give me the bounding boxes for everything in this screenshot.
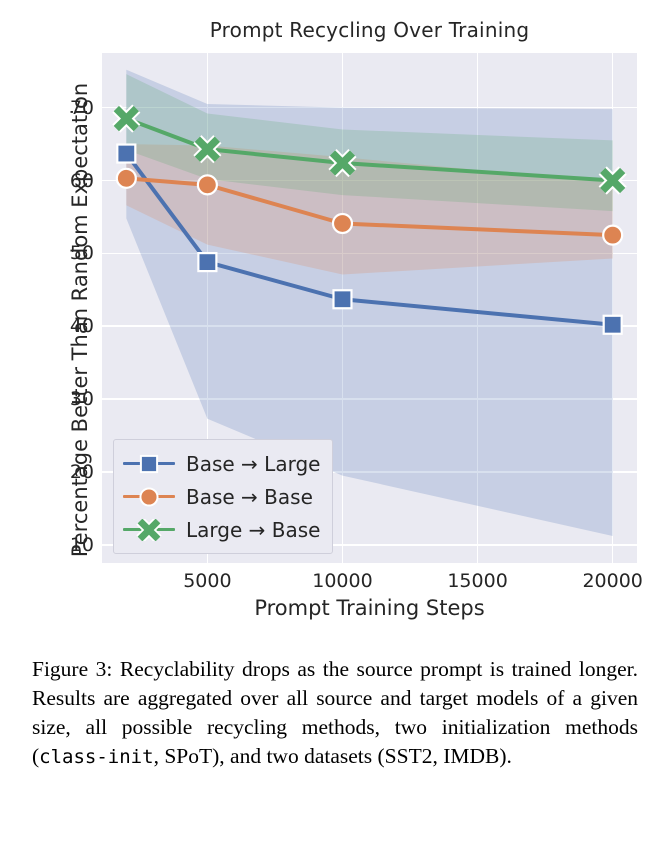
data-point-2-0 (116, 109, 136, 129)
y-tick-label-30: 30 (34, 388, 94, 410)
data-point-0-1 (198, 253, 216, 271)
y-tick-label-60: 60 (34, 170, 94, 192)
x-tick-label-5000: 5000 (152, 570, 262, 592)
data-point-2-3 (603, 171, 623, 191)
legend-label: Base → Base (186, 485, 313, 509)
chart-legend: Base → LargeBase → BaseLarge → Base (113, 439, 333, 554)
legend-marker-glyph (123, 486, 175, 508)
x-tick-label-10000: 10000 (287, 570, 397, 592)
y-tick-label-40: 40 (34, 315, 94, 337)
y-axis-ticks: 10203040506070 (28, 53, 94, 563)
chart-title: Prompt Recycling Over Training (102, 18, 637, 42)
data-point-2-1 (197, 139, 217, 159)
data-point-1-0 (117, 169, 136, 188)
y-tick-label-10: 10 (34, 534, 94, 556)
legend-marker-square-icon (123, 453, 175, 475)
legend-marker-circle-icon (123, 486, 175, 508)
legend-item-1[interactable]: Base → Base (123, 480, 320, 513)
y-tick-label-50: 50 (34, 242, 94, 264)
chart: Prompt Recycling Over Training Percentag… (0, 0, 668, 640)
x-tick-label-20000: 20000 (558, 570, 668, 592)
x-axis-label: Prompt Training Steps (102, 596, 637, 620)
y-tick-label-70: 70 (34, 97, 94, 119)
y-tick-label-20: 20 (34, 461, 94, 483)
data-point-2-2 (332, 153, 352, 173)
legend-marker-glyph (123, 519, 175, 541)
data-point-0-0 (117, 145, 135, 163)
legend-label: Large → Base (186, 518, 320, 542)
legend-item-0[interactable]: Base → Large (123, 447, 320, 480)
figure-caption: Figure 3: Recyclability drops as the sou… (32, 655, 638, 771)
x-tick-label-15000: 15000 (423, 570, 533, 592)
data-point-1-2 (333, 214, 352, 233)
legend-item-2[interactable]: Large → Base (123, 513, 320, 546)
figure-3: Prompt Recycling Over Training Percentag… (0, 0, 668, 851)
legend-label: Base → Large (186, 452, 320, 476)
caption-code-class-init: class-init (39, 746, 153, 768)
data-point-1-3 (603, 226, 622, 245)
data-point-1-1 (198, 175, 217, 194)
legend-marker-x-icon (123, 519, 175, 541)
data-point-0-3 (604, 316, 622, 334)
legend-marker-glyph (123, 453, 175, 475)
data-point-0-2 (333, 290, 351, 308)
x-axis-ticks: 5000100001500020000 (102, 570, 637, 598)
